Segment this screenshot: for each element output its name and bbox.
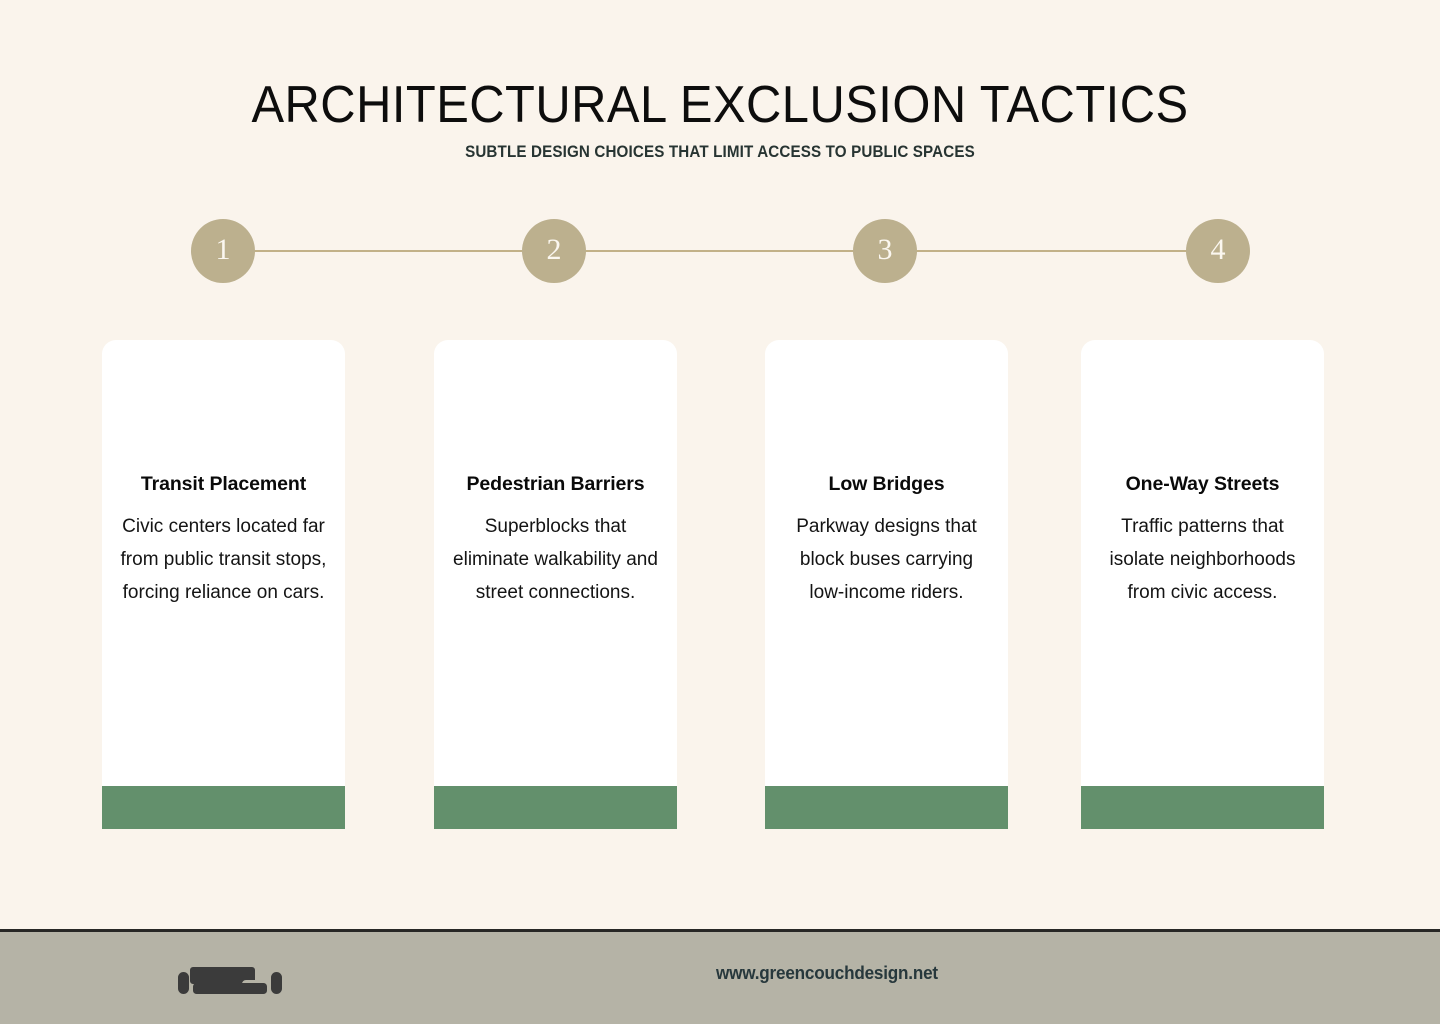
timeline-node-4[interactable]: 4	[1186, 219, 1250, 283]
timeline-connector-line	[223, 250, 1218, 252]
infographic-canvas: ARCHITECTURAL EXCLUSION TACTICS SUBTLE D…	[0, 0, 1440, 1024]
page-title: ARCHITECTURAL EXCLUSION TACTICS	[43, 78, 1397, 133]
timeline: 1 2 3 4	[0, 219, 1440, 283]
page-subtitle: SUBTLE DESIGN CHOICES THAT LIMIT ACCESS …	[58, 143, 1383, 162]
card-accent-bar	[102, 786, 345, 829]
card-description: Civic centers located far from public tr…	[116, 511, 331, 609]
card-heading: Pedestrian Barriers	[448, 473, 663, 496]
card-description: Parkway designs that block buses carryin…	[779, 511, 994, 609]
cards-container: Transit Placement Civic centers located …	[102, 340, 1324, 829]
timeline-node-3[interactable]: 3	[853, 219, 917, 283]
timeline-node-number: 2	[547, 235, 562, 265]
card-body: Low Bridges Parkway designs that block b…	[765, 340, 1008, 786]
card-pedestrian-barriers[interactable]: Pedestrian Barriers Superblocks that eli…	[434, 340, 677, 829]
footer-website-url[interactable]: www.greencouchdesign.net	[143, 963, 1440, 984]
timeline-node-number: 1	[216, 235, 231, 265]
card-heading: Transit Placement	[116, 473, 331, 496]
timeline-node-1[interactable]: 1	[191, 219, 255, 283]
card-accent-bar	[434, 786, 677, 829]
card-low-bridges[interactable]: Low Bridges Parkway designs that block b…	[765, 340, 1008, 829]
header: ARCHITECTURAL EXCLUSION TACTICS SUBTLE D…	[0, 78, 1440, 162]
card-heading: One-Way Streets	[1095, 473, 1310, 496]
card-body: Transit Placement Civic centers located …	[102, 340, 345, 786]
card-accent-bar	[1081, 786, 1324, 829]
card-transit-placement[interactable]: Transit Placement Civic centers located …	[102, 340, 345, 829]
timeline-node-number: 4	[1211, 235, 1226, 265]
card-body: One-Way Streets Traffic patterns that is…	[1081, 340, 1324, 786]
card-body: Pedestrian Barriers Superblocks that eli…	[434, 340, 677, 786]
timeline-node-2[interactable]: 2	[522, 219, 586, 283]
timeline-node-number: 3	[878, 235, 893, 265]
footer: www.greencouchdesign.net	[0, 929, 1440, 1024]
card-heading: Low Bridges	[779, 473, 994, 496]
card-description: Traffic patterns that isolate neighborho…	[1095, 511, 1310, 609]
card-description: Superblocks that eliminate walkability a…	[448, 511, 663, 609]
card-accent-bar	[765, 786, 1008, 829]
card-one-way-streets[interactable]: One-Way Streets Traffic patterns that is…	[1081, 340, 1324, 829]
